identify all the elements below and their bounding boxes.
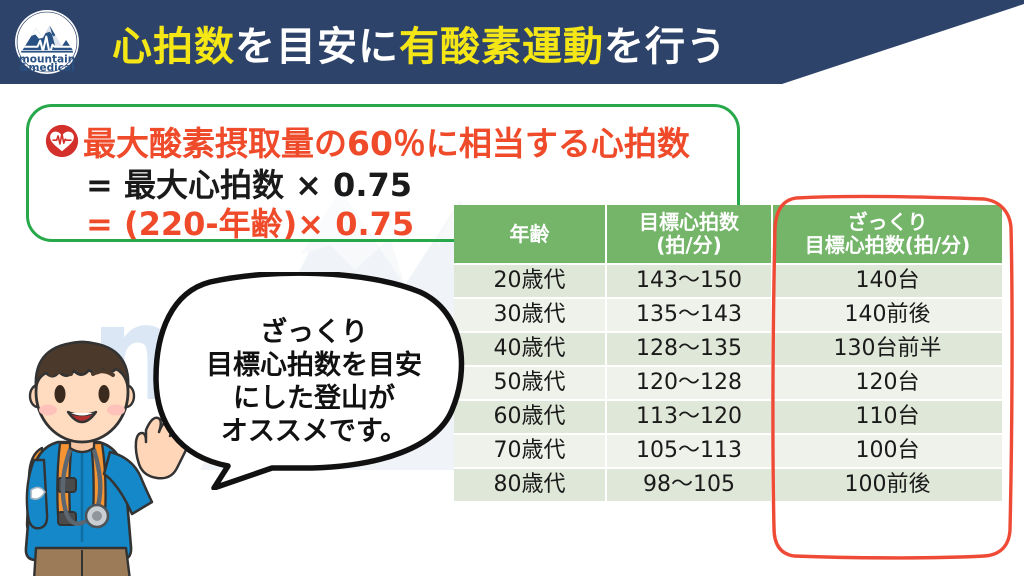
cell-target: 128〜135 bbox=[606, 332, 772, 366]
table-header-row: 年齢 目標心拍数 (拍/分) ざっくり 目標心拍数(拍/分) bbox=[454, 205, 1002, 264]
column-header-rough-line1: ざっくり bbox=[775, 211, 1000, 234]
cell-rough: 110台 bbox=[772, 400, 1002, 434]
column-header-age: 年齢 bbox=[454, 205, 606, 264]
page-title: 心拍数を目安に有酸素運動を行う bbox=[112, 14, 727, 72]
column-header-target: 目標心拍数 (拍/分) bbox=[606, 205, 772, 264]
formula-line-1-row: 最大酸素摂取量の60％に相当する心拍数 bbox=[45, 117, 690, 165]
table-row: 60歳代113〜120110台 bbox=[454, 400, 1002, 434]
bubble-line-2: 目標心拍数を目安 bbox=[206, 349, 422, 382]
cell-age: 30歳代 bbox=[454, 298, 606, 332]
column-header-rough-line2: 目標心拍数(拍/分) bbox=[775, 234, 1000, 257]
heart-rate-table: 年齢 目標心拍数 (拍/分) ざっくり 目標心拍数(拍/分) 20歳代143〜1… bbox=[454, 205, 1002, 503]
title-segment-1: 心拍数 bbox=[112, 14, 235, 72]
heart-pulse-icon bbox=[45, 124, 79, 158]
cell-rough: 140台 bbox=[772, 264, 1002, 298]
cell-target: 135〜143 bbox=[606, 298, 772, 332]
table-body: 20歳代143〜150140台 30歳代135〜143140前後 40歳代128… bbox=[454, 264, 1002, 502]
cell-age: 60歳代 bbox=[454, 400, 606, 434]
table-row: 20歳代143〜150140台 bbox=[454, 264, 1002, 298]
cell-target: 98〜105 bbox=[606, 468, 772, 502]
formula-line-3: = (220-年齢)× 0.75 bbox=[86, 199, 414, 245]
cell-target: 113〜120 bbox=[606, 400, 772, 434]
column-header-age-label: 年齢 bbox=[456, 223, 603, 246]
title-segment-4: を行う bbox=[604, 14, 727, 72]
column-header-target-line2: (拍/分) bbox=[609, 234, 769, 257]
cell-age: 80歳代 bbox=[454, 468, 606, 502]
cell-rough: 130台前半 bbox=[772, 332, 1002, 366]
title-segment-2: を目安に bbox=[235, 14, 399, 72]
slide-canvas: mountain mountain &medical 心拍数を目安に有酸素運動を… bbox=[0, 0, 1024, 576]
table-row: 80歳代98〜105100前後 bbox=[454, 468, 1002, 502]
cell-rough: 100台 bbox=[772, 434, 1002, 468]
bubble-line-1: ざっくり bbox=[260, 316, 368, 349]
bubble-line-4: オススメです。 bbox=[221, 415, 407, 448]
table-row: 50歳代120〜128120台 bbox=[454, 366, 1002, 400]
title-segment-3: 有酸素運動 bbox=[399, 14, 604, 72]
cell-rough: 120台 bbox=[772, 366, 1002, 400]
logo-text-line-2: &medical bbox=[19, 62, 74, 74]
column-header-target-line1: 目標心拍数 bbox=[609, 211, 769, 234]
bubble-line-3: にした登山が bbox=[233, 382, 395, 415]
mountain-medical-logo-icon: mountain &medical bbox=[13, 8, 81, 76]
cell-rough: 140前後 bbox=[772, 298, 1002, 332]
cell-age: 70歳代 bbox=[454, 434, 606, 468]
cell-age: 20歳代 bbox=[454, 264, 606, 298]
formula-line-1: 最大酸素摂取量の60％に相当する心拍数 bbox=[83, 117, 690, 165]
table-row: 40歳代128〜135130台前半 bbox=[454, 332, 1002, 366]
cell-age: 40歳代 bbox=[454, 332, 606, 366]
column-header-rough: ざっくり 目標心拍数(拍/分) bbox=[772, 205, 1002, 264]
cell-age: 50歳代 bbox=[454, 366, 606, 400]
speech-bubble-text: ざっくり 目標心拍数を目安 にした登山が オススメです。 bbox=[172, 282, 456, 482]
cell-rough: 100前後 bbox=[772, 468, 1002, 502]
cell-target: 105〜113 bbox=[606, 434, 772, 468]
table-row: 30歳代135〜143140前後 bbox=[454, 298, 1002, 332]
cell-target: 120〜128 bbox=[606, 366, 772, 400]
cell-target: 143〜150 bbox=[606, 264, 772, 298]
table-row: 70歳代105〜113100台 bbox=[454, 434, 1002, 468]
